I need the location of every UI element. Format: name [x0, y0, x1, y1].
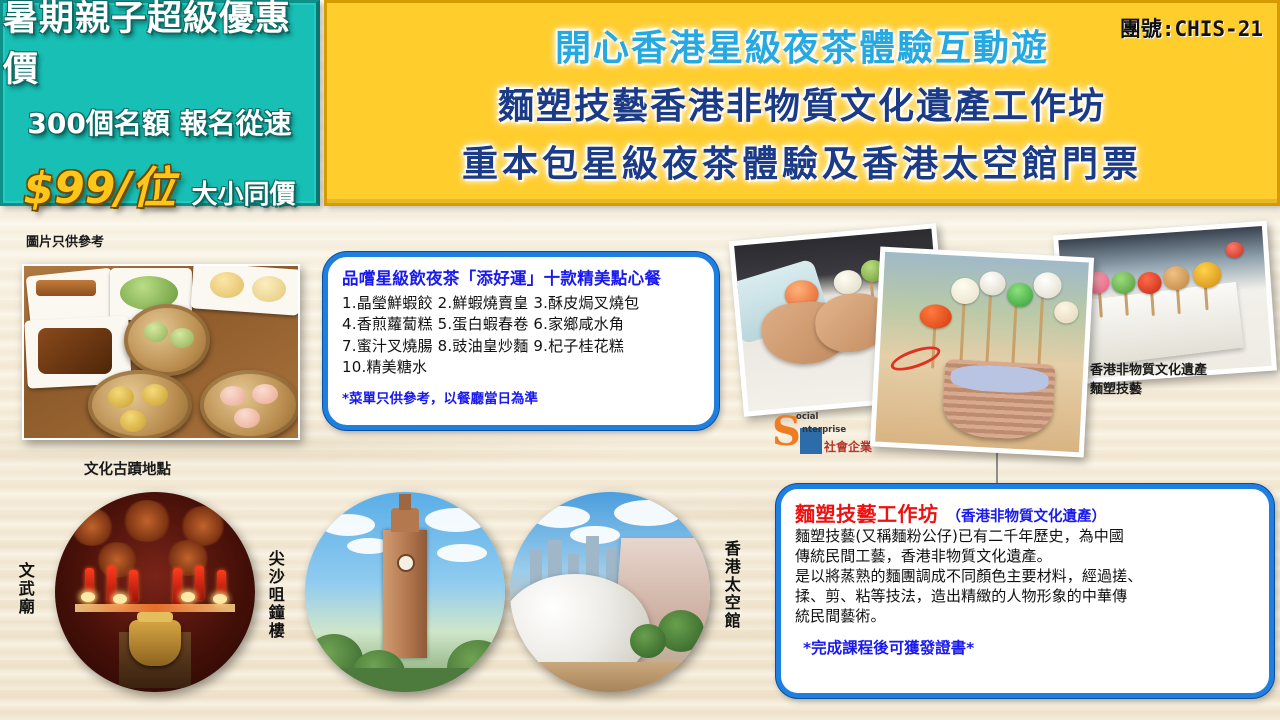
social-enterprise-logo: S ocial nterprise 社會企業 — [772, 408, 880, 458]
clock-tower-structure — [383, 530, 427, 658]
menu-items-line2: 4.香煎蘿蔔糕 5.蛋白蝦春卷 6.家鄉咸水角 — [342, 314, 702, 335]
title-line3: 重本包星級夜茶體驗及香港太空館門票 — [462, 135, 1142, 187]
workshop-certificate-note: *完成課程後可獲發證書* — [795, 636, 1259, 658]
display-table — [1077, 282, 1244, 367]
header: 暑期親子超級優惠價 300個名額 報名從速 $99/位 大小同價 團號:CHIS… — [0, 0, 1280, 212]
heritage-caption-line1: 香港非物質文化遺產 — [1090, 362, 1207, 381]
menu-disclaimer: *菜單只供參考，以餐廳當日為準 — [342, 387, 702, 407]
heritage-sites-label: 文化古蹟地點 — [84, 458, 171, 479]
title-line1: 開心香港星級夜茶體驗互動遊 — [555, 19, 1049, 71]
workshop-title: 麵塑技藝工作坊 — [795, 498, 939, 527]
title-line2: 麵塑技藝香港非物質文化遺產工作坊 — [498, 77, 1106, 129]
site-label-space-museum: 香港太空館 — [722, 540, 739, 630]
dimsum-photo-art — [24, 266, 298, 438]
workshop-description-box: 麵塑技藝工作坊 （香港非物質文化遺產） 麵塑技藝(又稱麵粉公仔)已有二千年歷史，… — [776, 484, 1274, 698]
menu-items-line3: 7.蜜汁叉燒腸 8.豉油皇炒麵 9.杞子桂花糕 — [342, 336, 702, 357]
site-label-clocktower: 尖沙咀鐘樓 — [266, 550, 283, 640]
space-museum-photo — [510, 492, 710, 692]
workshop-subtitle: （香港非物質文化遺產） — [947, 505, 1107, 526]
workshop-body-line2: 傳統民間工藝，香港非物質文化遺產。 — [795, 547, 1259, 567]
manmo-temple-photo — [55, 492, 255, 692]
dough-basket — [942, 359, 1056, 441]
dimsum-photo — [22, 264, 300, 440]
promo-price: $99/位 — [24, 152, 176, 216]
promo-price-row: $99/位 大小同價 — [24, 152, 296, 216]
photo-reference-label: 圖片只供參考 — [26, 231, 104, 250]
clock-tower-photo — [305, 492, 505, 692]
heritage-caption: 香港非物質文化遺產 麵塑技藝 — [1090, 362, 1207, 400]
logo-word-enterprise: nterprise — [802, 425, 846, 435]
clock-face — [397, 554, 415, 572]
promo-price-note: 大小同價 — [191, 174, 295, 211]
workshop-body-line5: 統民間藝術。 — [795, 607, 1259, 627]
workshop-body-line4: 揉、剪、粘等技法，造出精緻的人物形象的中華傳 — [795, 587, 1259, 607]
title-banner: 團號:CHIS-21 開心香港星級夜茶體驗互動遊 麵塑技藝香港非物質文化遺產工作… — [324, 0, 1280, 206]
promo-line1: 暑期親子超級優惠價 — [3, 0, 316, 92]
workshop-photo-figurines-art — [875, 252, 1089, 452]
logo-chinese-text: 社會企業 — [824, 438, 872, 455]
logo-word-social: ocial — [796, 412, 818, 422]
workshop-body-line3: 是以將蒸熟的麵團調成不同顏色主要材料，經過搓、 — [795, 567, 1259, 587]
incense-urn — [129, 620, 181, 666]
workshop-title-row: 麵塑技藝工作坊 （香港非物質文化遺產） — [795, 498, 1259, 527]
heritage-caption-line2: 麵塑技藝 — [1090, 381, 1207, 400]
workshop-body-line1: 麵塑技藝(又稱麵粉公仔)已有二千年歷史，為中國 — [795, 527, 1259, 547]
promo-banner: 暑期親子超級優惠價 300個名額 報名從速 $99/位 大小同價 — [0, 0, 320, 206]
menu-items-line1: 1.晶瑩鮮蝦餃 2.鮮蝦燒賣皇 3.酥皮焗叉燒包 — [342, 293, 702, 314]
menu-title: 品嚐星級飲夜茶「添好運」十款精美點心餐 — [342, 265, 702, 289]
promo-line2: 300個名額 報名從速 — [27, 102, 291, 142]
site-label-manmo: 文武廟 — [16, 562, 33, 616]
workshop-photo-figurines — [870, 247, 1094, 458]
menu-items-line4: 10.精美糖水 — [342, 357, 702, 378]
dimsum-menu-box: 品嚐星級飲夜茶「添好運」十款精美點心餐 1.晶瑩鮮蝦餃 2.鮮蝦燒賣皇 3.酥皮… — [323, 252, 719, 430]
tour-code: 團號:CHIS-21 — [1120, 13, 1263, 43]
